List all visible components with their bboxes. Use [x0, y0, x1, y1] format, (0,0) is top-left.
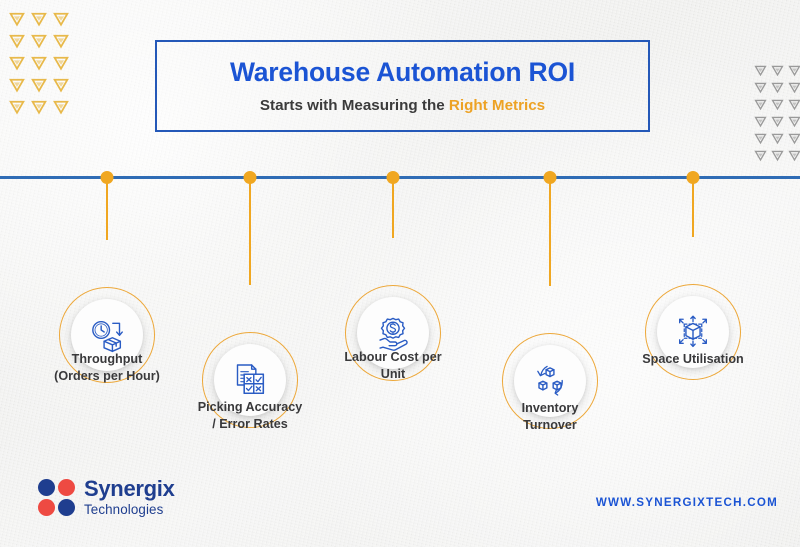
timeline-connector-throughput [106, 180, 108, 240]
triangle-down-icon [786, 79, 800, 96]
timeline-node-inventory-turnover[interactable] [544, 171, 557, 184]
page-title: Warehouse Automation ROI [230, 59, 575, 86]
triangle-down-icon [28, 52, 50, 74]
triangle-down-icon [28, 96, 50, 118]
logo-company-tagline: Technologies [84, 503, 175, 516]
triangle-down-icon [752, 62, 769, 79]
milestone-label-labour-cost: Labour Cost per Unit [308, 349, 478, 384]
triangle-down-icon [50, 52, 72, 74]
triangle-down-icon [769, 147, 786, 164]
timeline-axis [0, 176, 800, 179]
triangle-down-icon [786, 147, 800, 164]
triangle-down-icon [50, 74, 72, 96]
triangle-down-icon [752, 96, 769, 113]
triangle-down-icon [786, 130, 800, 147]
triangle-down-icon [752, 79, 769, 96]
triangle-down-icon [6, 74, 28, 96]
triangle-down-icon [6, 52, 28, 74]
logo-company-name: Synergix [84, 478, 175, 500]
triangle-down-icon [50, 74, 72, 96]
triangle-down-icon [786, 79, 800, 96]
triangle-down-icon [769, 113, 786, 130]
triangle-down-icon [786, 62, 800, 79]
triangle-down-icon [6, 30, 28, 52]
timeline-connector-picking-accuracy [249, 180, 251, 285]
triangle-down-icon [28, 52, 50, 74]
triangle-down-icon [28, 96, 50, 118]
logo-dot-1 [38, 479, 55, 496]
timeline-node-labour-cost[interactable] [387, 171, 400, 184]
triangle-down-icon [752, 147, 769, 164]
triangle-down-icon [28, 8, 50, 30]
triangle-down-icon [769, 62, 786, 79]
triangle-down-icon [6, 8, 28, 30]
triangle-down-icon [50, 52, 72, 74]
triangle-down-icon [50, 8, 72, 30]
triangle-down-icon [769, 79, 786, 96]
triangle-down-icon [50, 96, 72, 118]
subtitle-prefix: Starts with Measuring the [260, 97, 449, 114]
website-url[interactable]: WWW.SYNERGIXTECH.COM [596, 496, 778, 509]
triangle-down-icon [50, 8, 72, 30]
triangle-down-icon [28, 74, 50, 96]
triangle-down-icon [50, 96, 72, 118]
triangle-down-icon [769, 96, 786, 113]
triangle-down-icon [752, 147, 769, 164]
page-subtitle: Starts with Measuring the Right Metrics [260, 98, 545, 113]
triangle-down-icon [6, 52, 28, 74]
timeline-node-space-utilisation[interactable] [687, 171, 700, 184]
triangle-down-icon [752, 113, 769, 130]
decorative-triangle-grid-left [6, 8, 72, 118]
infographic-canvas: Warehouse Automation ROI Starts with Mea… [0, 0, 800, 547]
triangle-down-icon [6, 96, 28, 118]
triangle-down-icon [769, 79, 786, 96]
triangle-down-icon [786, 96, 800, 113]
triangle-down-icon [50, 30, 72, 52]
triangle-down-icon [769, 62, 786, 79]
timeline-connector-space-utilisation [692, 180, 694, 237]
triangle-down-icon [6, 30, 28, 52]
milestone-label-picking-accuracy: Picking Accuracy / Error Rates [165, 399, 335, 434]
triangle-down-icon [769, 113, 786, 130]
timeline-node-picking-accuracy[interactable] [244, 171, 257, 184]
triangle-down-icon [769, 96, 786, 113]
triangle-down-icon [786, 113, 800, 130]
milestone-label-space-utilisation: Space Utilisation [608, 351, 778, 368]
triangle-down-icon [752, 113, 769, 130]
triangle-down-icon [28, 30, 50, 52]
logo-text: Synergix Technologies [84, 478, 175, 516]
triangle-down-icon [6, 96, 28, 118]
triangle-down-icon [752, 79, 769, 96]
triangle-down-icon [786, 113, 800, 130]
subtitle-accent: Right Metrics [449, 97, 545, 114]
logo-dot-4 [58, 499, 75, 516]
triangle-down-icon [752, 96, 769, 113]
milestone-label-inventory-turnover: Inventory Turnover [465, 400, 635, 435]
logo-dot-3 [38, 499, 55, 516]
triangle-down-icon [50, 30, 72, 52]
triangle-down-icon [786, 62, 800, 79]
triangle-down-icon [786, 130, 800, 147]
triangle-down-icon [769, 147, 786, 164]
logo-dot-2 [58, 479, 75, 496]
triangle-down-icon [752, 130, 769, 147]
header-title-box: Warehouse Automation ROI Starts with Mea… [155, 40, 650, 132]
triangle-down-icon [28, 8, 50, 30]
timeline-connector-inventory-turnover [549, 180, 551, 286]
triangle-down-icon [28, 30, 50, 52]
timeline-connector-labour-cost [392, 180, 394, 238]
logo-dots-icon [38, 479, 75, 516]
triangle-down-icon [786, 96, 800, 113]
triangle-down-icon [6, 74, 28, 96]
triangle-down-icon [752, 130, 769, 147]
milestone-label-throughput: Throughput (Orders per Hour) [22, 351, 192, 386]
triangle-down-icon [752, 62, 769, 79]
decorative-triangle-grid-right [752, 62, 800, 164]
timeline-node-throughput[interactable] [101, 171, 114, 184]
triangle-down-icon [6, 8, 28, 30]
triangle-down-icon [769, 130, 786, 147]
triangle-down-icon [28, 74, 50, 96]
triangle-down-icon [786, 147, 800, 164]
triangle-down-icon [769, 130, 786, 147]
company-logo: Synergix Technologies [38, 478, 175, 516]
